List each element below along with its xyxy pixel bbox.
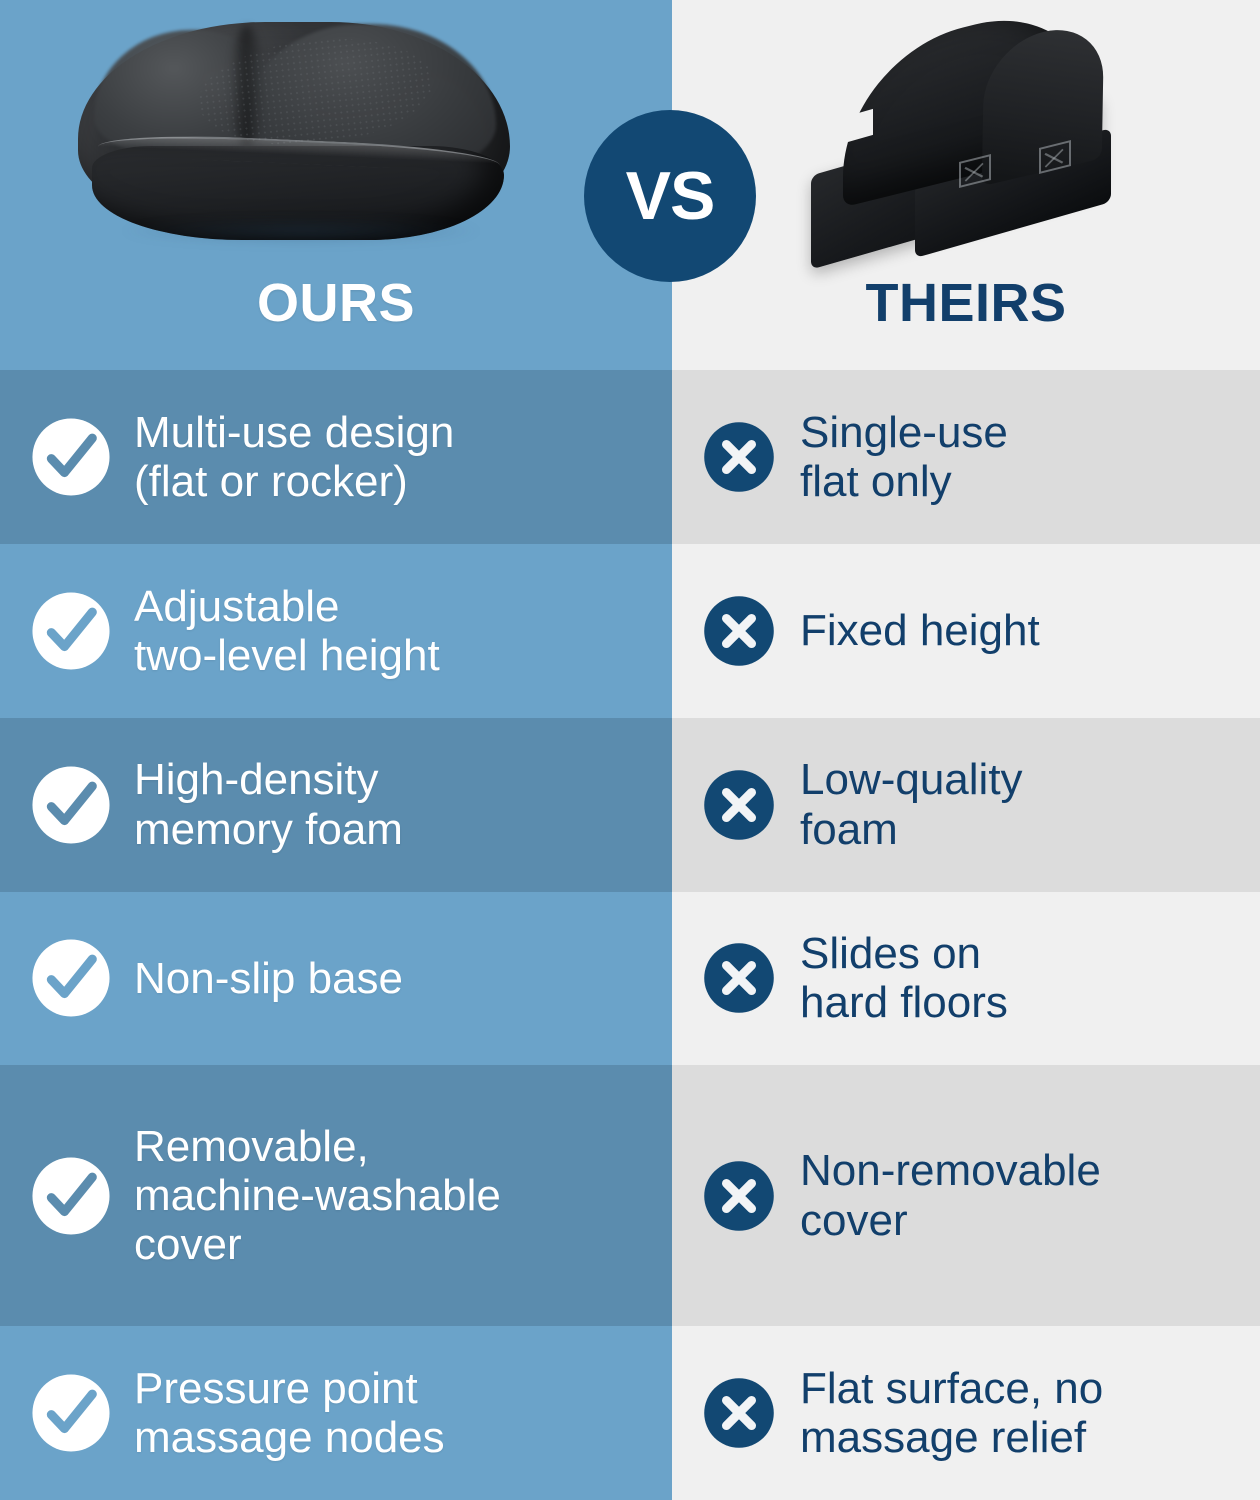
- column-title-ours: OURS: [0, 276, 672, 330]
- check-circle-icon: [30, 764, 112, 846]
- ours-cell: Adjustable two-level height: [0, 544, 672, 718]
- table-row: High-density memory foam Low-quality foa…: [0, 718, 1260, 892]
- check-circle-icon: [30, 1155, 112, 1237]
- check-circle-icon: [30, 1372, 112, 1454]
- x-circle-icon: [702, 420, 776, 494]
- x-circle-icon: [702, 941, 776, 1015]
- ours-feature-label: Non-slip base: [134, 954, 403, 1003]
- ours-pillow-shadow: [118, 218, 484, 244]
- theirs-cell: Fixed height: [672, 544, 1260, 718]
- theirs-feature-label: Slides on hard floors: [800, 929, 1008, 1028]
- table-row: Multi-use design (flat or rocker) Single…: [0, 370, 1260, 544]
- theirs-feature-label: Single-use flat only: [800, 408, 1008, 507]
- table-row: Pressure point massage nodes Flat surfac…: [0, 1326, 1260, 1500]
- ours-product-image: [0, 0, 672, 272]
- comparison-header: OURS THEIRS VS: [0, 0, 1260, 370]
- theirs-cell: Slides on hard floors: [672, 892, 1260, 1066]
- table-row: Adjustable two-level height Fixed height: [0, 544, 1260, 718]
- header-column-ours: OURS: [0, 0, 672, 370]
- vs-badge-label: VS: [626, 162, 715, 230]
- theirs-product-image: [672, 0, 1260, 272]
- x-circle-icon: [702, 1376, 776, 1450]
- theirs-feature-label: Low-quality foam: [800, 755, 1023, 854]
- vs-badge: VS: [584, 110, 756, 282]
- ours-cell: Multi-use design (flat or rocker): [0, 370, 672, 544]
- ours-feature-label: Removable, machine-washable cover: [134, 1122, 501, 1270]
- check-circle-icon: [30, 590, 112, 672]
- check-circle-icon: [30, 416, 112, 498]
- theirs-cell: Flat surface, no massage relief: [672, 1326, 1260, 1500]
- theirs-cell: Single-use flat only: [672, 370, 1260, 544]
- theirs-feature-label: Flat surface, no massage relief: [800, 1364, 1103, 1463]
- check-circle-icon: [30, 937, 112, 1019]
- ours-feature-label: Pressure point massage nodes: [134, 1364, 445, 1463]
- ours-feature-label: Adjustable two-level height: [134, 582, 440, 681]
- theirs-feature-label: Fixed height: [800, 606, 1040, 655]
- product-comparison-infographic: OURS THEIRS VS: [0, 0, 1260, 1500]
- ours-feature-label: Multi-use design (flat or rocker): [134, 408, 454, 507]
- theirs-feature-label: Non-removable cover: [800, 1146, 1101, 1245]
- table-row: Non-slip base Slides on hard floors: [0, 892, 1260, 1066]
- column-title-theirs: THEIRS: [672, 276, 1260, 330]
- ours-cell: Removable, machine-washable cover: [0, 1065, 672, 1326]
- x-circle-icon: [702, 594, 776, 668]
- ours-cell: Non-slip base: [0, 892, 672, 1066]
- x-circle-icon: [702, 768, 776, 842]
- ours-cell: High-density memory foam: [0, 718, 672, 892]
- theirs-cell: Non-removable cover: [672, 1065, 1260, 1326]
- comparison-rows: Multi-use design (flat or rocker) Single…: [0, 370, 1260, 1500]
- x-circle-icon: [702, 1159, 776, 1233]
- header-column-theirs: THEIRS: [672, 0, 1260, 370]
- theirs-cell: Low-quality foam: [672, 718, 1260, 892]
- table-row: Removable, machine-washable cover Non-re…: [0, 1065, 1260, 1326]
- ours-cell: Pressure point massage nodes: [0, 1326, 672, 1500]
- ours-feature-label: High-density memory foam: [134, 755, 403, 854]
